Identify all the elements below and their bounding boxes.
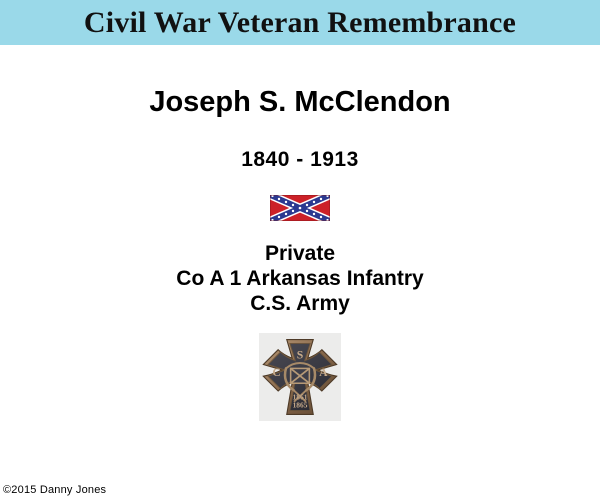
memorial-card: Joseph S. McClendon 1840 - 1913 xyxy=(0,87,600,421)
medal-date-bottom: 1865 xyxy=(293,400,308,409)
confederate-battle-flag-icon xyxy=(270,195,330,221)
page-title: Civil War Veteran Remembrance xyxy=(84,8,516,38)
page-header-banner: Civil War Veteran Remembrance xyxy=(0,0,600,45)
medal-container: S C A 1861 xyxy=(0,333,600,421)
footer: ©2015 Danny Jones xyxy=(3,484,106,496)
service-rank: Private xyxy=(0,241,600,266)
service-unit: Co A 1 Arkansas Infantry xyxy=(0,266,600,291)
veteran-name: Joseph S. McClendon xyxy=(0,87,600,119)
service-army: C.S. Army xyxy=(0,291,600,316)
southern-cross-of-honor-icon: S C A 1861 xyxy=(261,337,339,417)
medal-letter-c: C xyxy=(272,366,280,379)
medal-letter-a: A xyxy=(319,366,328,379)
copyright-notice: ©2015 Danny Jones xyxy=(3,484,106,496)
service-details: Private Co A 1 Arkansas Infantry C.S. Ar… xyxy=(0,241,600,316)
flag-container xyxy=(0,195,600,221)
medal-plate: S C A 1861 xyxy=(259,333,341,421)
veteran-life-dates: 1840 - 1913 xyxy=(0,148,600,172)
medal-letter-s: S xyxy=(297,348,304,361)
